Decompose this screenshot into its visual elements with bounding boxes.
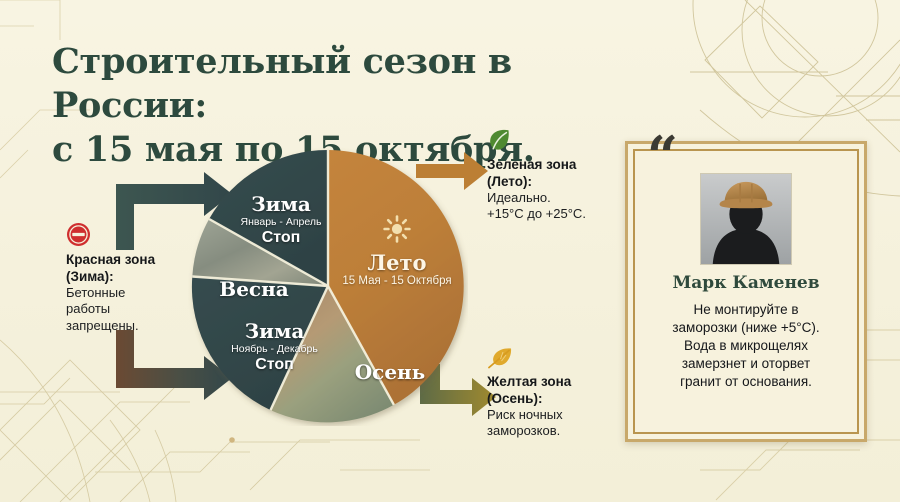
expert-quote-text: Не монтируйте в заморозки (ниже +5°C). В… xyxy=(647,301,845,391)
quote-mark-icon: “ xyxy=(647,129,678,183)
callout-green-heading: Зеленая зона (Лето): xyxy=(487,156,627,190)
callout-green-zone: Зеленая зона (Лето): Идеально. +15°C до … xyxy=(487,128,627,223)
callout-yellow-heading: Желтая зона (Осень): xyxy=(487,373,627,407)
callout-red-heading-line1: Красная зона xyxy=(66,251,191,268)
green-leaf-icon xyxy=(487,128,513,152)
callout-yellow-zone: Желтая зона (Осень): Риск ночных замороз… xyxy=(487,347,627,440)
callout-yellow-body: Риск ночных заморозков. xyxy=(487,407,627,440)
expert-quote-card: “ Марк Каменев Не мо xyxy=(625,141,867,442)
callout-red-body: Бетонные работы запрещены. xyxy=(66,285,191,334)
callout-yellow-heading-line2: (Осень): xyxy=(487,390,627,407)
callout-yellow-body-line2: заморозков. xyxy=(487,423,627,439)
callout-red-heading-line2: (Зима): xyxy=(66,268,191,285)
infographic-canvas: Строительный сезон в России: с 15 мая по… xyxy=(0,0,900,502)
callout-red-body-line3: запрещены. xyxy=(66,318,191,334)
pie-svg xyxy=(188,146,468,426)
quote-line1: Не монтируйте в xyxy=(647,301,845,319)
callout-green-body-line1: Идеально. xyxy=(487,190,627,206)
expert-name: Марк Каменев xyxy=(647,273,845,293)
quote-line2: заморозки (ниже +5°C). xyxy=(647,319,845,337)
callout-yellow-body-line1: Риск ночных xyxy=(487,407,627,423)
no-entry-icon xyxy=(66,222,91,247)
callout-red-body-line1: Бетонные xyxy=(66,285,191,301)
page-title-line1: Строительный сезон в России: xyxy=(52,41,512,126)
callout-red-zone: Красная зона (Зима): Бетонные работы зап… xyxy=(66,222,191,334)
callout-red-heading: Красная зона (Зима): xyxy=(66,251,191,285)
avatar xyxy=(700,173,792,265)
expert-quote-card-inner: “ Марк Каменев Не мо xyxy=(633,149,859,434)
quote-line4: замерзнет и оторвет xyxy=(647,355,845,373)
quote-line5: гранит от основания. xyxy=(647,373,845,391)
callout-green-heading-line1: Зеленая зона xyxy=(487,156,627,173)
yellow-leaf-icon xyxy=(487,347,513,369)
callout-green-body: Идеально. +15°C до +25°C. xyxy=(487,190,627,223)
season-pie-chart: Зима Январь - Апрель Стоп Весна Зима Ноя… xyxy=(188,146,468,426)
quote-line3: Вода в микрощелях xyxy=(647,337,845,355)
callout-yellow-heading-line1: Желтая зона xyxy=(487,373,627,390)
callout-green-heading-line2: (Лето): xyxy=(487,173,627,190)
callout-green-body-line2: +15°C до +25°C. xyxy=(487,206,627,222)
callout-red-body-line2: работы xyxy=(66,301,191,317)
